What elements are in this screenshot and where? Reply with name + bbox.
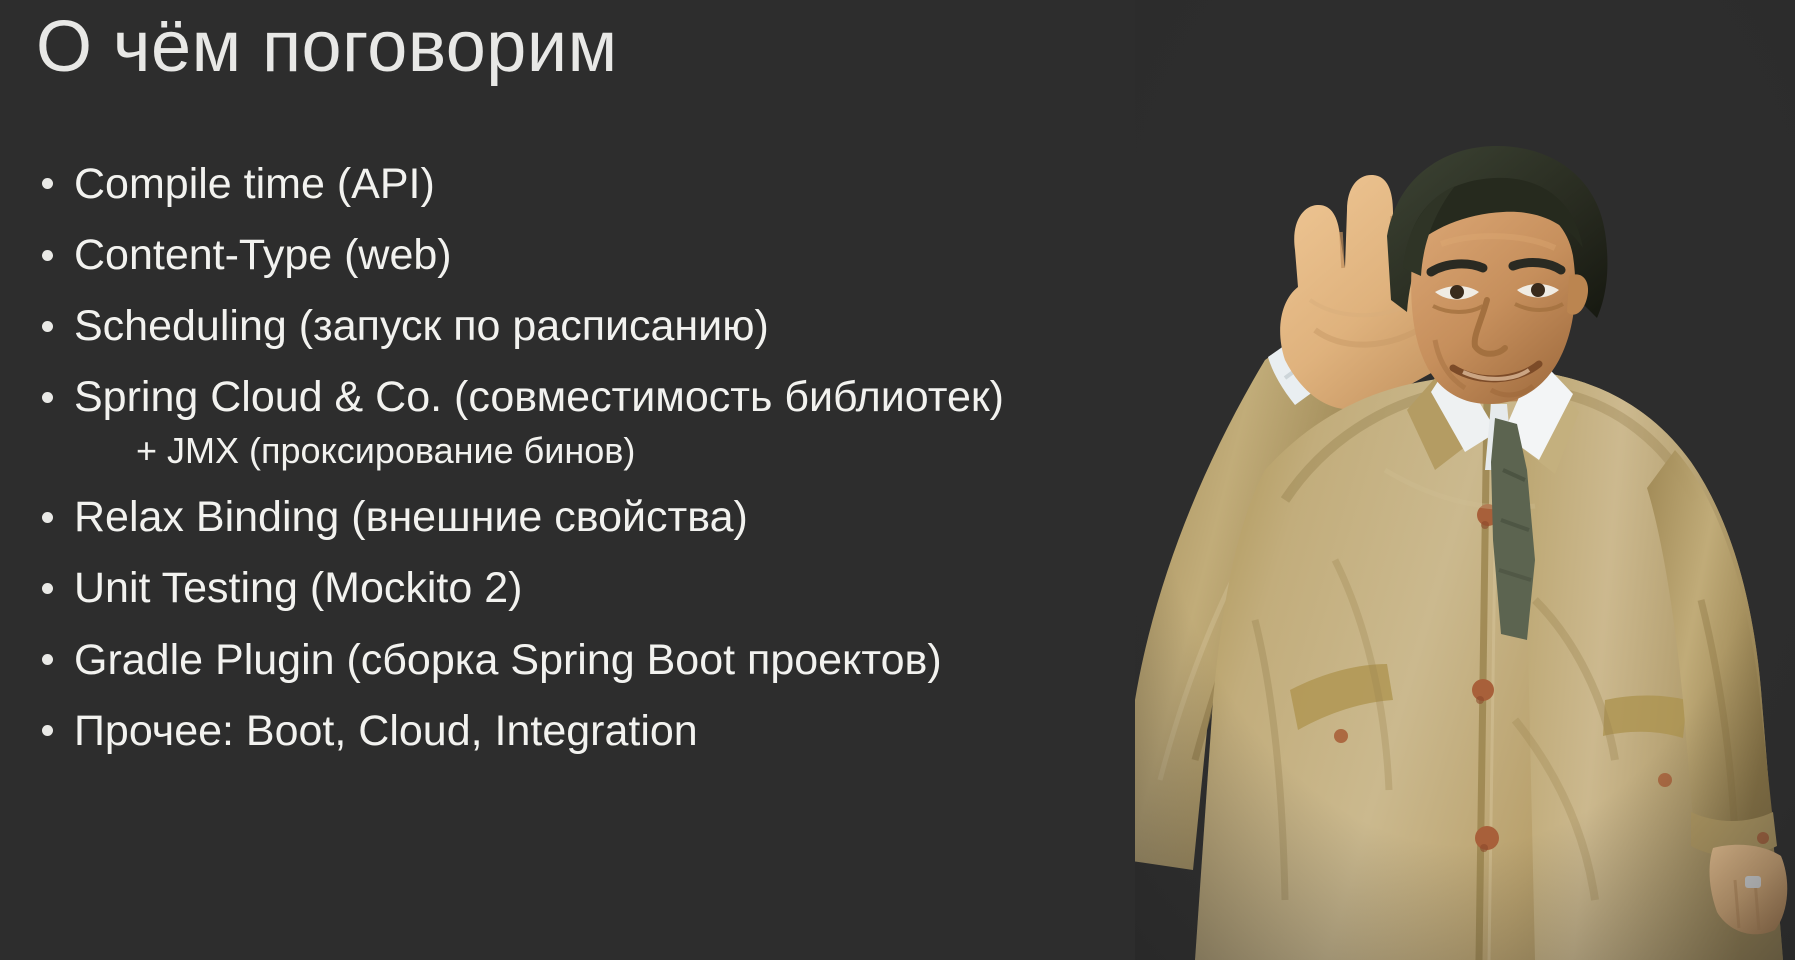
bullet-dot-icon (42, 725, 53, 736)
presentation-slide: О чём поговорим Compile time (API) Conte… (0, 0, 1795, 960)
list-item-label: Compile time (API) (74, 160, 435, 208)
list-item-label: Content-Type (web) (74, 231, 452, 279)
list-item-label: Прочее: Boot, Cloud, Integration (74, 707, 698, 755)
bullet-dot-icon (42, 178, 53, 189)
list-item-label: Spring Cloud & Co. (совместимость библио… (74, 373, 1004, 421)
list-item: Gradle Plugin (сборка Spring Boot проект… (34, 636, 1154, 684)
list-item-sub-label: + JMX (проксирование бинов) (74, 431, 1154, 471)
list-item-label: Relax Binding (внешние свойства) (74, 493, 748, 541)
bullet-dot-icon (42, 321, 53, 332)
photo-vignette (1135, 0, 1795, 960)
list-item: Scheduling (запуск по расписанию) (34, 302, 1154, 350)
bullet-dot-icon (42, 654, 53, 665)
list-item-label: Scheduling (запуск по расписанию) (74, 302, 769, 350)
list-item-label: Gradle Plugin (сборка Spring Boot проект… (74, 636, 942, 684)
list-item: Unit Testing (Mockito 2) (34, 564, 1154, 612)
list-item: Spring Cloud & Co. (совместимость библио… (34, 373, 1154, 470)
list-item: Content-Type (web) (34, 231, 1154, 279)
bullet-dot-icon (42, 583, 53, 594)
list-item: Прочее: Boot, Cloud, Integration (34, 707, 1154, 755)
list-item: Compile time (API) (34, 160, 1154, 208)
columbo-waving-photo (1135, 0, 1795, 960)
agenda-bullet-list: Compile time (API) Content-Type (web) Sc… (34, 160, 1154, 778)
columbo-illustration (1135, 0, 1795, 960)
page-title: О чём поговорим (36, 10, 618, 86)
list-item: Relax Binding (внешние свойства) (34, 493, 1154, 541)
bullet-dot-icon (42, 392, 53, 403)
bullet-dot-icon (42, 512, 53, 523)
list-item-label: Unit Testing (Mockito 2) (74, 564, 522, 612)
bullet-dot-icon (42, 250, 53, 261)
